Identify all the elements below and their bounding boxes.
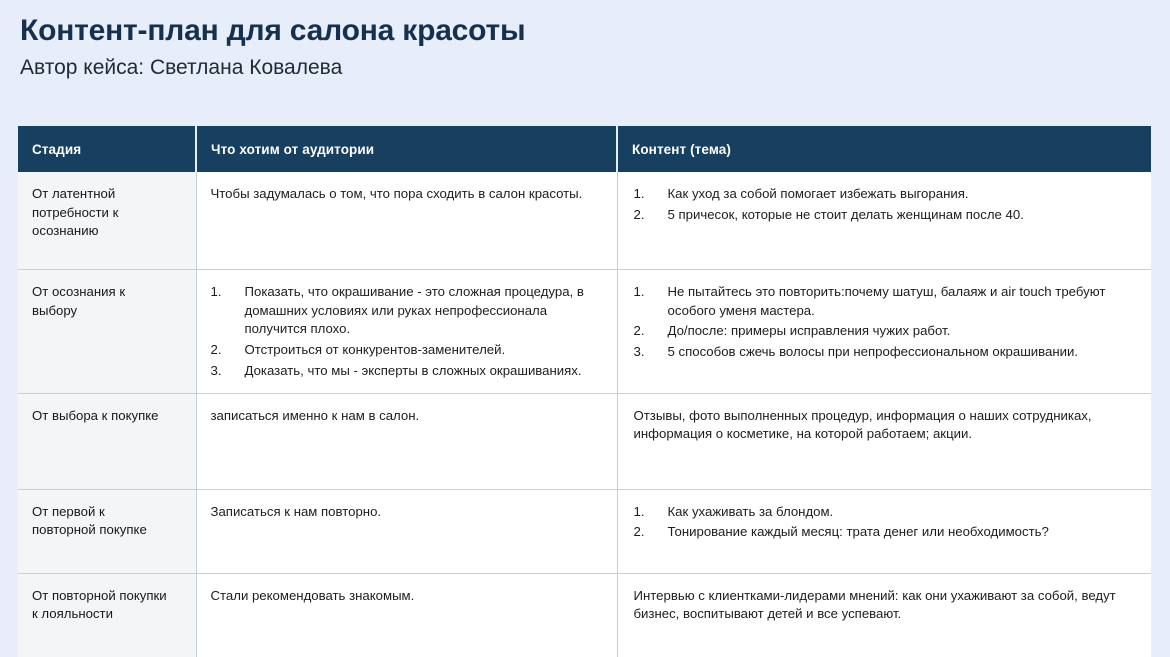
cell-audience-goal: Стали рекомендовать знакомым. <box>196 573 617 657</box>
content-plan-table-wrapper: Стадия Что хотим от аудитории Контент (т… <box>18 126 1151 657</box>
list-item: Как ухаживать за блондом. <box>634 503 1138 522</box>
numbered-list: Не пытайтесь это повторить:почему шатуш,… <box>634 283 1138 362</box>
cell-stage: От первой к повторной покупке <box>18 489 196 573</box>
cell-content-topic: Отзывы, фото выполненных процедур, инфор… <box>617 393 1151 489</box>
cell-content-topic: Как ухаживать за блондом.Тонирование каж… <box>617 489 1151 573</box>
list-item: Показать, что окрашивание - это сложная … <box>211 283 603 339</box>
slide-header: Контент-план для салона красоты Автор ке… <box>20 14 1140 80</box>
cell-audience-goal: записаться именно к нам в салон. <box>196 393 617 489</box>
list-item: До/после: примеры исправления чужих рабо… <box>634 322 1138 341</box>
content-plan-table: Стадия Что хотим от аудитории Контент (т… <box>18 126 1151 657</box>
cell-text: От первой к повторной покупке <box>32 503 186 540</box>
cell-content-topic: Не пытайтесь это повторить:почему шатуш,… <box>617 270 1151 394</box>
list-item: Доказать, что мы - эксперты в сложных ок… <box>211 362 603 381</box>
table-row: От латентной потребности к осознаниюЧтоб… <box>18 172 1151 270</box>
column-header-content-topic: Контент (тема) <box>617 126 1151 172</box>
cell-text: Чтобы задумалась о том, что пора сходить… <box>211 185 603 204</box>
cell-text: Отзывы, фото выполненных процедур, инфор… <box>634 407 1138 444</box>
cell-audience-goal: Чтобы задумалась о том, что пора сходить… <box>196 172 617 270</box>
page-subtitle-author: Автор кейса: Светлана Ковалева <box>20 56 1140 80</box>
numbered-list: Как уход за собой помогает избежать выго… <box>634 185 1138 224</box>
cell-text: От латентной потребности к осознанию <box>32 185 186 241</box>
cell-content-topic: Как уход за собой помогает избежать выго… <box>617 172 1151 270</box>
page-title: Контент-план для салона красоты <box>20 14 1140 48</box>
cell-text: записаться именно к нам в салон. <box>211 407 603 426</box>
numbered-list: Показать, что окрашивание - это сложная … <box>211 283 603 381</box>
cell-text: От выбора к покупке <box>32 407 186 426</box>
table-header-row: Стадия Что хотим от аудитории Контент (т… <box>18 126 1151 172</box>
table-row: От повторной покупки к лояльностиСтали р… <box>18 573 1151 657</box>
slide-canvas: Контент-план для салона красоты Автор ке… <box>0 0 1170 634</box>
cell-stage: От выбора к покупке <box>18 393 196 489</box>
cell-text: От осознания к выбору <box>32 283 186 320</box>
column-header-stage: Стадия <box>18 126 196 172</box>
list-item: 5 причесок, которые не стоит делать женщ… <box>634 206 1138 225</box>
table-row: От первой к повторной покупкеЗаписаться … <box>18 489 1151 573</box>
cell-audience-goal: Показать, что окрашивание - это сложная … <box>196 270 617 394</box>
cell-audience-goal: Записаться к нам повторно. <box>196 489 617 573</box>
table-row: От выбора к покупкезаписаться именно к н… <box>18 393 1151 489</box>
table-row: От осознания к выборуПоказать, что окраш… <box>18 270 1151 394</box>
cell-stage: От повторной покупки к лояльности <box>18 573 196 657</box>
table-body: От латентной потребности к осознаниюЧтоб… <box>18 172 1151 657</box>
cell-stage: От латентной потребности к осознанию <box>18 172 196 270</box>
column-header-audience-goal: Что хотим от аудитории <box>196 126 617 172</box>
list-item: Не пытайтесь это повторить:почему шатуш,… <box>634 283 1138 320</box>
numbered-list: Как ухаживать за блондом.Тонирование каж… <box>634 503 1138 542</box>
list-item: Тонирование каждый месяц: трата денег ил… <box>634 523 1138 542</box>
list-item: Отстроиться от конкурентов-заменителей. <box>211 341 603 360</box>
list-item: Как уход за собой помогает избежать выго… <box>634 185 1138 204</box>
cell-content-topic: Интервью с клиентками-лидерами мнений: к… <box>617 573 1151 657</box>
table-header: Стадия Что хотим от аудитории Контент (т… <box>18 126 1151 172</box>
cell-text: От повторной покупки к лояльности <box>32 587 186 624</box>
cell-text: Стали рекомендовать знакомым. <box>211 587 603 606</box>
cell-text: Записаться к нам повторно. <box>211 503 603 522</box>
cell-text: Интервью с клиентками-лидерами мнений: к… <box>634 587 1138 624</box>
cell-stage: От осознания к выбору <box>18 270 196 394</box>
list-item: 5 способов сжечь волосы при непрофессион… <box>634 343 1138 362</box>
